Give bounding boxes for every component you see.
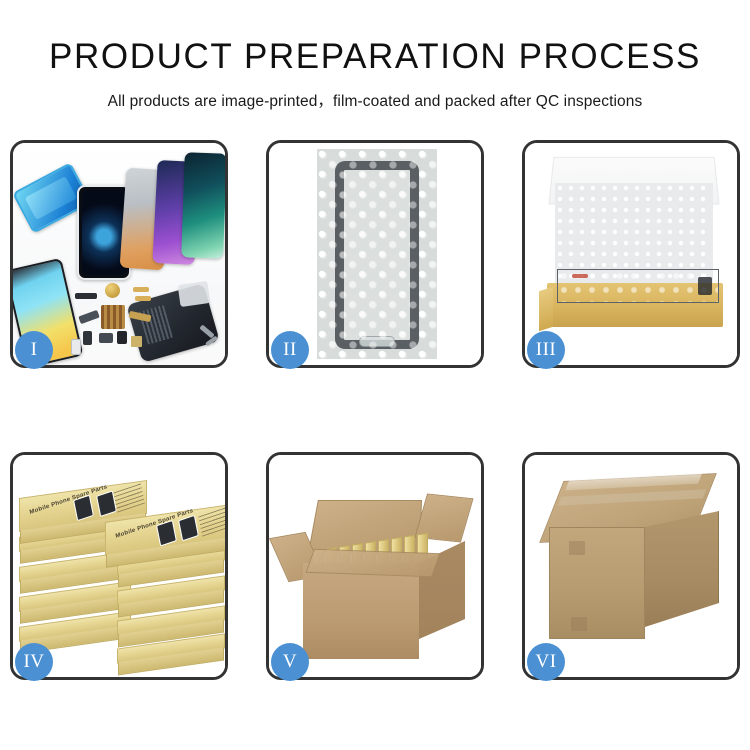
spare-part-ic-chip-grid (101, 305, 125, 329)
spare-part-camera-module (99, 333, 113, 343)
open-kraft-box-scene (525, 143, 737, 365)
spare-part-tool (178, 281, 211, 307)
carton-flap-front (305, 549, 440, 577)
bubble-wrap-scene (269, 143, 481, 365)
step-6-image (525, 455, 737, 677)
header: PRODUCT PREPARATION PROCESS All products… (0, 0, 750, 111)
packed-screen (557, 269, 719, 303)
process-step-panel-2: II (266, 140, 484, 368)
step-1-image (13, 143, 225, 365)
step-3-image (525, 143, 737, 365)
bubble-wrap-sheet (317, 149, 437, 359)
process-step-panel-6: VI (522, 452, 740, 680)
stacked-boxes-scene: Mobile Phone Spare Parts Mobile Phone Sp… (13, 455, 225, 677)
retail-box-spec-lines (198, 506, 225, 536)
spare-part-flex-cable-b (135, 296, 151, 301)
spare-part-flex-cable-a (133, 287, 149, 292)
kraft-box-tray (547, 283, 723, 327)
retail-box-phone-graphic (73, 495, 94, 522)
retail-box-phone-graphic (156, 520, 177, 547)
carton-handle-notch (569, 541, 585, 555)
spare-part-gold-chip (131, 336, 142, 347)
product-preparation-infographic: PRODUCT PREPARATION PROCESS All products… (0, 0, 750, 750)
sealed-carton-scene (525, 455, 737, 677)
wrapped-phone-screen (335, 161, 419, 349)
step-5-image (269, 455, 481, 677)
step-4-image: Mobile Phone Spare Parts Mobile Phone Sp… (13, 455, 225, 677)
step-badge-2: II (271, 331, 309, 369)
spare-part-speaker-coil (105, 283, 120, 298)
process-step-grid: I II (10, 140, 740, 680)
spare-part-bracket (78, 310, 100, 324)
carton-side-panel (645, 511, 719, 627)
teal-gradient-phone (181, 152, 225, 258)
step-badge-1: I (15, 331, 53, 369)
process-step-panel-1: I (10, 140, 228, 368)
carton-front-panel (549, 527, 645, 639)
step-2-image (269, 143, 481, 365)
page-subtitle: All products are image-printed，film-coat… (0, 89, 750, 111)
step-badge-5: V (271, 643, 309, 681)
open-carton-scene (269, 455, 481, 677)
process-step-panel-4: Mobile Phone Spare Parts Mobile Phone Sp… (10, 452, 228, 680)
retail-box-brand-text: Mobile Phone Spare Parts (29, 484, 108, 516)
spare-part-connector (75, 293, 97, 299)
step-badge-6: VI (527, 643, 565, 681)
carton-handle-notch (571, 617, 587, 631)
phones-and-parts-scene (13, 143, 225, 365)
step-badge-4: IV (15, 643, 53, 681)
step-badge-3: III (527, 331, 565, 369)
page-title: PRODUCT PREPARATION PROCESS (0, 38, 750, 77)
process-step-panel-5: V (266, 452, 484, 680)
spare-part-sim-tray (71, 339, 81, 355)
spare-part-vibrator (117, 331, 127, 344)
retail-box-phone-graphic (178, 515, 199, 542)
spare-part-button (83, 331, 92, 345)
process-step-panel-3: III (522, 140, 740, 368)
carton-front-panel (303, 563, 419, 659)
retail-box-spec-lines (114, 482, 146, 512)
